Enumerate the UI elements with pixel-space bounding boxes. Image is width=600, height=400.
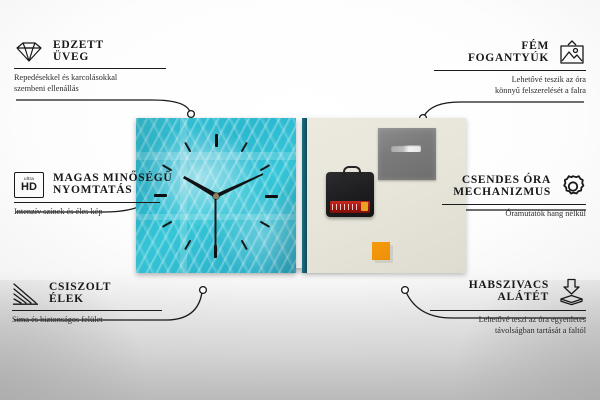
feature-description: Repedésekkel és karcolásokkal szembeni e… xyxy=(14,72,166,94)
feature-title-line2: FOGANTYÚK xyxy=(468,53,549,65)
ultra-hd-large-text: HD xyxy=(21,182,37,193)
feature-description: Sima és biztonságos felület xyxy=(12,314,162,325)
clock-center-cap xyxy=(213,193,219,199)
feature-header: CSISZOLT ÉLEK xyxy=(12,282,162,306)
feature-tempered-glass: EDZETT ÜVEG Repedésekkel és karcolásokka… xyxy=(14,40,166,94)
picture-hanger-icon xyxy=(558,40,586,66)
feature-titles: CSENDES ÓRA MECHANIZMUS xyxy=(453,175,551,198)
feature-polished-edges: CSISZOLT ÉLEK Sima és biztonságos felüle… xyxy=(12,282,162,325)
battery-terminal xyxy=(361,202,368,211)
foam-pad-icon xyxy=(558,278,586,306)
feature-description: Lehetővé teszi az óra egyenletes távolsá… xyxy=(430,314,586,336)
feature-header: HABSZIVACS ALÁTÉT xyxy=(430,278,586,306)
feature-description: Lehetővé teszik az óra könnyű felszerelé… xyxy=(434,74,586,96)
feature-header: EDZETT ÜVEG xyxy=(14,40,166,64)
mechanism-hook xyxy=(343,166,361,177)
infographic-canvas: EDZETT ÜVEG Repedésekkel és karcolásokka… xyxy=(0,0,600,400)
hanger-slot xyxy=(391,145,421,152)
feature-header: CSENDES ÓRA MECHANIZMUS xyxy=(442,174,586,200)
feature-divider xyxy=(430,310,586,311)
feature-titles: FÉM FOGANTYÚK xyxy=(468,41,549,64)
feature-high-quality-print: ultra HD MAGAS MINŐSÉGŰ NYOMTATÁS Intenz… xyxy=(14,172,160,217)
polished-edges-icon xyxy=(12,282,40,306)
feature-titles: MAGAS MINŐSÉGŰ NYOMTATÁS xyxy=(53,173,172,196)
metal-hanger-plate xyxy=(378,128,436,180)
diamond-icon xyxy=(14,40,44,64)
clock-mechanism xyxy=(326,172,374,217)
feature-silent-mechanism: CSENDES ÓRA MECHANIZMUS Óramutatók hang … xyxy=(442,174,586,219)
product-group xyxy=(136,118,466,273)
feature-description: Óramutatók hang nélkül xyxy=(442,208,586,219)
feature-title-line2: ALÁTÉT xyxy=(469,292,549,304)
feature-divider xyxy=(14,68,166,69)
feature-title-line2: ÜVEG xyxy=(53,52,104,64)
gear-icon xyxy=(560,174,586,200)
ultra-hd-icon: ultra HD xyxy=(14,172,44,198)
feature-foam-backing: HABSZIVACS ALÁTÉT Lehetővé teszi az óra … xyxy=(430,278,586,336)
feature-title-line2: ÉLEK xyxy=(49,294,111,306)
feature-header: ultra HD MAGAS MINŐSÉGŰ NYOMTATÁS xyxy=(14,172,160,198)
foam-pad xyxy=(372,242,390,260)
feature-divider xyxy=(12,310,162,311)
feature-titles: CSISZOLT ÉLEK xyxy=(49,282,111,305)
feature-divider xyxy=(442,204,586,205)
battery xyxy=(330,201,370,213)
feature-divider xyxy=(14,202,160,203)
feature-divider xyxy=(434,70,586,71)
feature-header: FÉM FOGANTYÚK xyxy=(434,40,586,66)
feature-title-line2: MECHANIZMUS xyxy=(453,187,551,199)
battery-stripes xyxy=(332,204,358,210)
feature-description: Intenzív színek és éles kép xyxy=(14,206,160,217)
glass-edge xyxy=(302,118,307,273)
feature-metal-handles: FÉM FOGANTYÚK Lehetővé teszik az óra kön… xyxy=(434,40,586,96)
feature-titles: EDZETT ÜVEG xyxy=(53,40,104,63)
feature-titles: HABSZIVACS ALÁTÉT xyxy=(469,280,549,303)
feature-title-line2: NYOMTATÁS xyxy=(53,185,172,197)
